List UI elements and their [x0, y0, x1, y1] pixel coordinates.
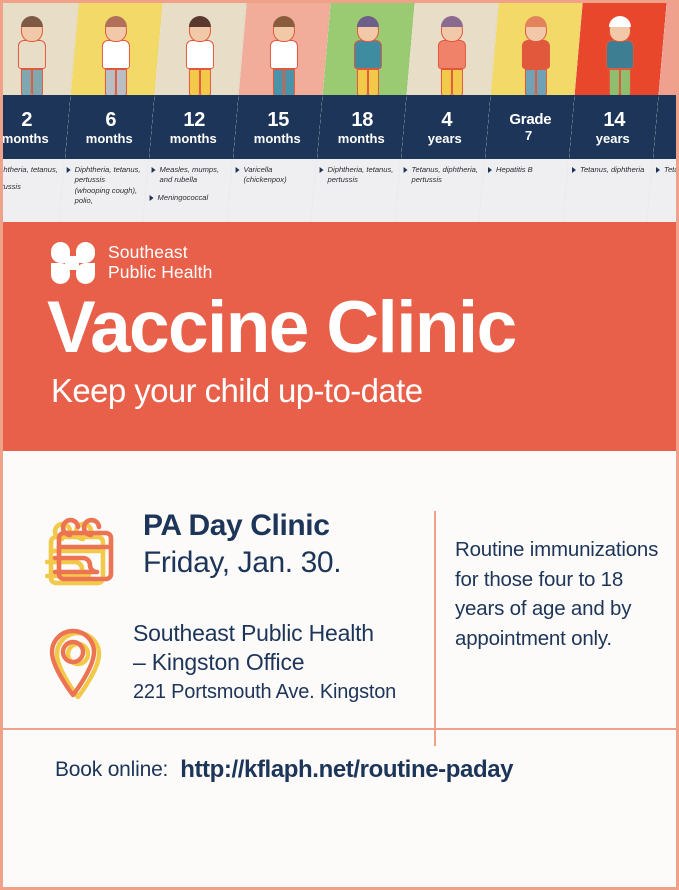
clinic-location-row: Southeast Public Health – Kingston Offic…: [45, 619, 425, 705]
schedule-card-age: 12months: [149, 95, 239, 159]
brand-lockup: Southeast Public Health: [51, 240, 679, 284]
schedule-card-illustration: [491, 3, 584, 95]
schedule-card-age-unit: months: [3, 132, 48, 145]
hero-banner: Southeast Public Health Vaccine Clinic K…: [3, 222, 679, 451]
schedule-card-age-value: 2: [21, 110, 32, 130]
location-line-1: Southeast Public Health: [133, 619, 396, 648]
vertical-divider: [434, 511, 436, 746]
schedule-card-illustration: [3, 3, 79, 95]
schedule-card-vaccines: Varicella (chickenpox): [227, 159, 317, 222]
clinic-details: PA Day Clinic Friday, Jan. 30.: [45, 509, 425, 705]
schedule-card-vaccine-item: Diphtheria, tetanus, pertussis (whooping…: [75, 165, 142, 206]
org-line-2: Public Health: [108, 262, 212, 282]
clinic-date: Friday, Jan. 30.: [143, 545, 341, 581]
clinic-date-text: PA Day Clinic Friday, Jan. 30.: [143, 509, 341, 581]
schedule-card-age-value: Grade: [509, 112, 551, 127]
schedule-card-age-value: 4: [441, 110, 452, 130]
schedule-card-age-unit: months: [85, 132, 132, 145]
schedule-card-vaccine-item: Tetanus, diphtheria: [580, 165, 647, 175]
schedule-card-vaccine-item: Measles, mumps, and rubella: [160, 165, 227, 186]
booking-url[interactable]: http://kflaph.net/routine-paday: [180, 756, 513, 784]
schedule-card-vaccine-item: Meningococcal: [158, 193, 225, 203]
schedule-card-vaccines: Diphtheria, tetanus, pertussis: [311, 159, 401, 222]
org-line-1: Southeast: [108, 242, 188, 262]
schedule-card-vaccine-item: Hepatitis B: [496, 165, 563, 175]
schedule-card-age-unit: months: [253, 132, 300, 145]
schedule-card-age: 6months: [65, 95, 155, 159]
schedule-card-illustration: [323, 3, 416, 95]
schedule-card-vaccine-item: Tetanus: [664, 165, 679, 175]
schedule-card-age-value: 12: [184, 110, 206, 130]
schedule-card-vaccine-item: Tetanus, diphtheria, pertussis: [412, 165, 479, 186]
schedule-card-age-value: 6: [105, 110, 116, 130]
schedule-card-illustration: [155, 3, 248, 95]
schedule-card-vaccine-item: Varicella (chickenpox): [244, 165, 311, 186]
poster-subtitle: Keep your child up-to-date: [51, 374, 679, 409]
schedule-card-vaccines: Measles, mumps, and rubellaMeningococcal: [143, 159, 233, 222]
booking-footer: Book online: http://kflaph.net/routine-p…: [3, 728, 679, 810]
schedule-card-vaccines: Tetanus, diphtheria: [563, 159, 653, 222]
schedule-card-vaccine-item: pertussis: [3, 182, 57, 192]
schedule-card-age: 15months: [233, 95, 323, 159]
schedule-card-age-value: 15: [268, 110, 290, 130]
schedule-card-age-unit: years: [596, 132, 630, 145]
schedule-card-age-unit: years: [428, 132, 462, 145]
schedule-card-age: 14years: [569, 95, 659, 159]
leaf-logo-icon: [51, 240, 95, 284]
schedule-card-vaccines: Diphtheria, tetanus, pertussis (whooping…: [59, 159, 149, 222]
schedule-card-age: 2months: [3, 95, 71, 159]
schedule-card-illustration: [71, 3, 164, 95]
poster-title: Vaccine Clinic: [47, 292, 679, 364]
organization-name: Southeast Public Health: [108, 242, 212, 283]
schedule-card-age-unit: months: [169, 132, 216, 145]
schedule-card-age-unit: months: [337, 132, 384, 145]
schedule-card-illustration: [239, 3, 332, 95]
clinic-location-text: Southeast Public Health – Kingston Offic…: [133, 619, 396, 705]
schedule-card-vaccines: Diphtheria, tetanus,pertussis: [3, 159, 65, 222]
schedule-card-age-unit: 7: [525, 129, 532, 142]
schedule-card-illustration: [407, 3, 500, 95]
location-line-2: – Kingston Office: [133, 648, 396, 677]
schedule-card-age: 4years: [401, 95, 491, 159]
clinic-name: PA Day Clinic: [143, 509, 341, 543]
schedule-card-age: Grade7: [485, 95, 575, 159]
schedule-card-vaccines: Hepatitis B: [479, 159, 569, 222]
clinic-date-row: PA Day Clinic Friday, Jan. 30.: [45, 509, 425, 593]
immunization-schedule-strip: 2monthsDiphtheria, tetanus,pertussis6mon…: [3, 3, 679, 222]
schedule-card-age-value: 14: [604, 110, 626, 130]
schedule-card-age: 18months: [317, 95, 407, 159]
book-online-label: Book online:: [55, 758, 168, 782]
schedule-card-vaccine-item: Diphtheria, tetanus,: [3, 165, 59, 175]
location-address: 221 Portsmouth Ave. Kingston: [133, 679, 396, 705]
calendar-icon: [45, 517, 121, 593]
schedule-card-list: 2monthsDiphtheria, tetanus,pertussis6mon…: [3, 3, 679, 222]
vaccine-clinic-poster: 2monthsDiphtheria, tetanus,pertussis6mon…: [0, 0, 679, 890]
schedule-card-vaccines: Tetanus, diphtheria, pertussis: [395, 159, 485, 222]
schedule-card-vaccine-item: Diphtheria, tetanus, pertussis: [328, 165, 395, 186]
schedule-card-vaccines: Tetanus: [647, 159, 679, 222]
map-pin-icon: [45, 621, 111, 697]
eligibility-note: Routine immunizations for those four to …: [455, 535, 665, 654]
schedule-card-age: 18 to 6years: [653, 95, 679, 159]
schedule-card-illustration: [575, 3, 668, 95]
poster-body: PA Day Clinic Friday, Jan. 30.: [3, 451, 679, 810]
schedule-card-age-value: 18: [352, 110, 374, 130]
